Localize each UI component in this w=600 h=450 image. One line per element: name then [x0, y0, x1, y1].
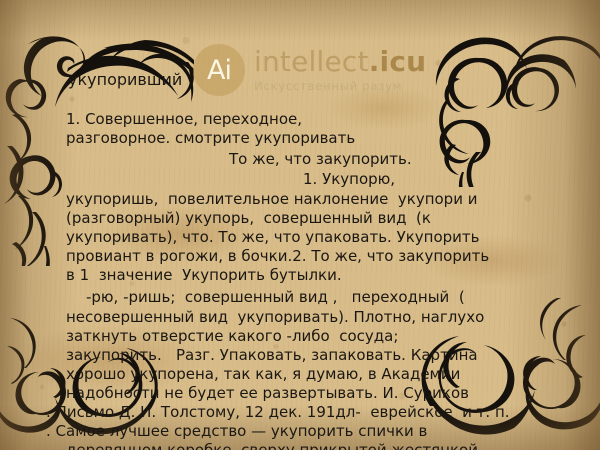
entry-line: в 1 значение Укупорить бутылки. — [66, 266, 342, 286]
entry-line: деревянном коробке, сверху прикрытой жес… — [66, 441, 478, 450]
entry-line: -рю, -ришь; совершенный вид , переходный… — [86, 288, 465, 308]
entry-line: хорошо укупорена, так как, я думаю, в Ак… — [66, 365, 460, 385]
parchment-slide: Ai intellect.icu Искусственный разум уку… — [0, 0, 600, 450]
entry-line: укупоривать), что. То же, что упаковать.… — [66, 228, 479, 248]
entry-line: То же, что закупорить. — [229, 150, 412, 170]
entry-line: закупорить. Разг. Упаковать, запаковать.… — [66, 346, 478, 366]
entry-headword: укупоривший — [68, 70, 182, 90]
entry-line: (разговорный) укупорь, совершенный вид (… — [66, 209, 431, 229]
entry-line: разговорное. смотрите укупоривать — [66, 129, 355, 149]
dictionary-entry: укупоривший 1. Совершенное, переходное, … — [0, 0, 600, 450]
entry-line: провиант в рогожи, в бочки.2. То же, что… — [66, 247, 489, 267]
entry-line: 1. Укупорю, — [303, 170, 395, 190]
entry-line: надобности не будет ее развертывать. И. … — [66, 384, 469, 404]
entry-line: . Самое лучшее средство — укупорить спич… — [46, 422, 427, 442]
entry-line: заткнуть отверстие какого -либо сосуда; — [66, 327, 398, 347]
entry-line: несовершенный вид укупоривать). Плотно, … — [66, 308, 484, 328]
entry-line: . Письмо Д. И. Толстому, 12 дек. 191дл- … — [46, 403, 510, 423]
entry-line: 1. Совершенное, переходное, — [66, 110, 302, 130]
entry-line: укупоришь, повелительное наклонение укуп… — [66, 190, 477, 210]
